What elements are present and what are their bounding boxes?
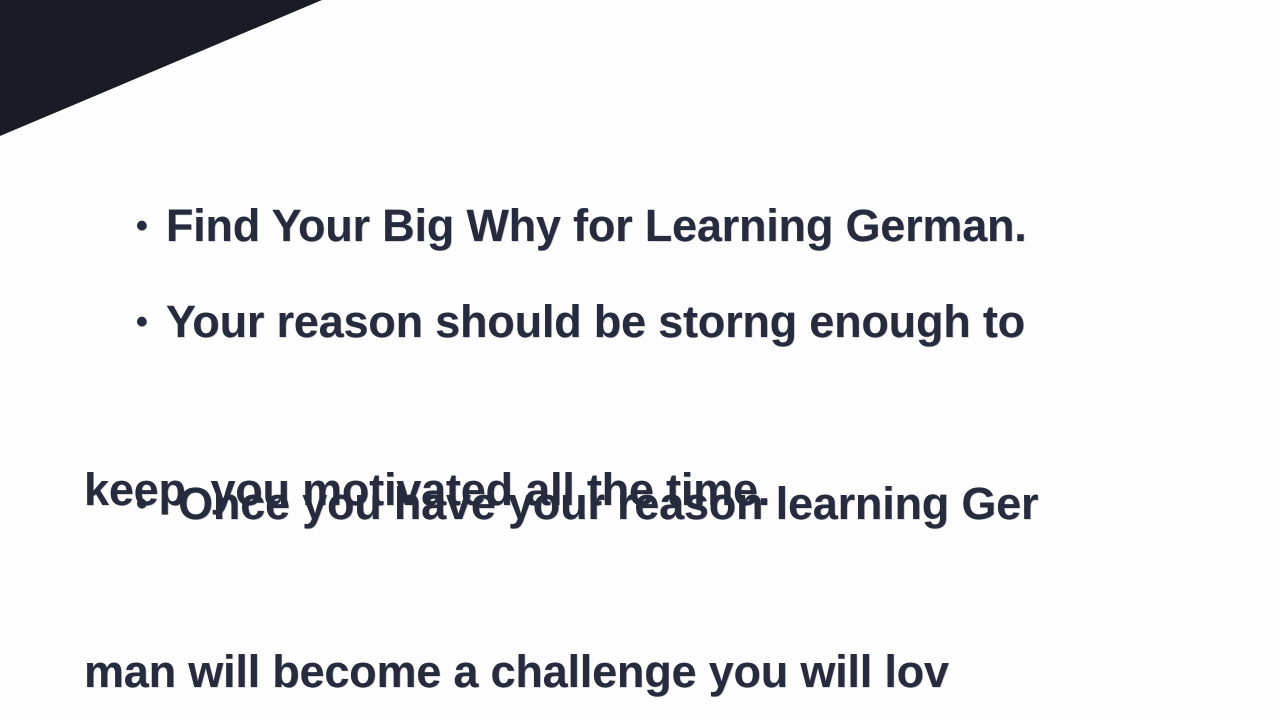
slide-canvas: •Find Your Big Why for Learning German. … xyxy=(0,0,1280,720)
bullet-point-icon: • xyxy=(136,280,166,364)
bullet-item-3-line-2: man will become a challenge you will lov xyxy=(84,630,1262,714)
bullet-item-3: • Once you have your reason learning Ger… xyxy=(62,378,1262,720)
bullet-item-2-line-1: Your reason should be storng enough to xyxy=(166,296,1025,347)
bullet-list: •Find Your Big Why for Learning German. … xyxy=(0,0,1280,720)
bullet-item-3-line-1: Once you have your reason learning Ger xyxy=(166,478,1039,529)
bullet-point-icon: • xyxy=(136,462,166,546)
